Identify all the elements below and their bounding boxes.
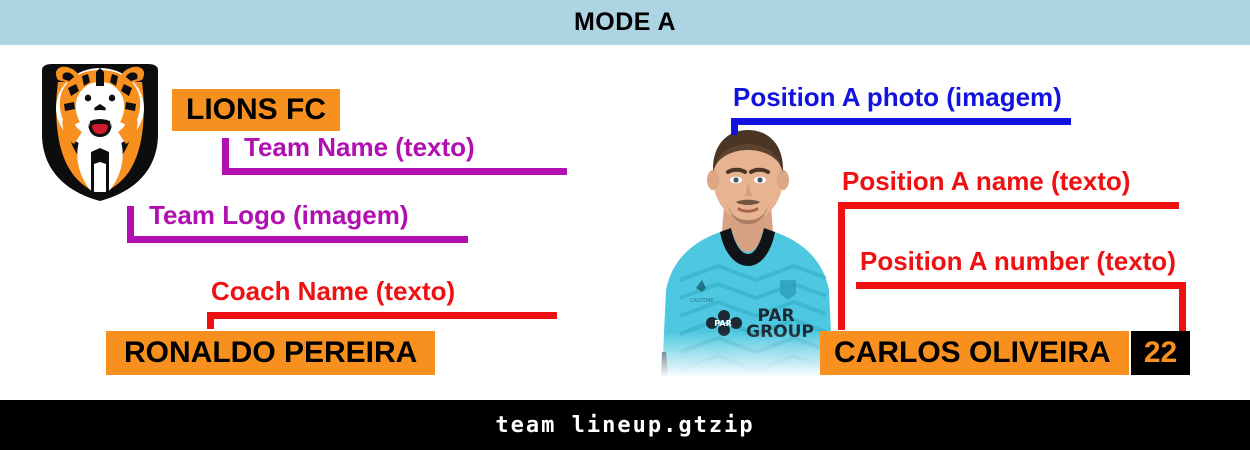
player-number-text: 22 bbox=[1144, 336, 1177, 370]
team-name-text: LIONS FC bbox=[186, 93, 326, 127]
annotation-bracket-stub bbox=[127, 206, 134, 240]
annotation-bracket-stub bbox=[1179, 282, 1186, 331]
annotation-bracket-stub bbox=[207, 312, 214, 329]
footer-filename-text: team lineup.gtzip bbox=[495, 413, 754, 438]
annotation-position-a-name-text: Position A name (texto) bbox=[842, 168, 1130, 194]
annotation-position-a-photo-text: Position A photo (imagem) bbox=[733, 84, 1062, 110]
team-logo-image bbox=[34, 52, 166, 202]
coach-name-text: RONALDO PEREIRA bbox=[124, 336, 417, 370]
annotation-bracket-line bbox=[207, 312, 557, 319]
annotation-team-logo-text: Team Logo (imagem) bbox=[149, 202, 409, 228]
annotation-bracket-line bbox=[856, 282, 1186, 289]
annotation-bracket-stub bbox=[731, 118, 738, 135]
annotation-position-a-number-text: Position A number (texto) bbox=[860, 248, 1176, 274]
annotation-bracket-line bbox=[838, 202, 1179, 209]
player-name-label: CARLOS OLIVEIRA bbox=[820, 331, 1129, 375]
annotation-bracket-stub bbox=[222, 138, 229, 172]
player-name-text: CARLOS OLIVEIRA bbox=[834, 336, 1111, 370]
coach-name-label: RONALDO PEREIRA bbox=[106, 331, 435, 375]
annotation-bracket-line bbox=[222, 168, 567, 175]
annotation-bracket-stub bbox=[838, 202, 845, 330]
screenshot-root: MODE A bbox=[0, 0, 1250, 450]
team-name-label: LIONS FC bbox=[172, 89, 340, 131]
annotation-bracket-line bbox=[731, 118, 1071, 125]
player-number-badge: 22 bbox=[1131, 331, 1190, 375]
footer-bar: team lineup.gtzip bbox=[0, 400, 1250, 450]
mode-header-bar: MODE A bbox=[0, 0, 1250, 45]
annotation-team-name-text: Team Name (texto) bbox=[244, 134, 475, 160]
annotation-bracket-line bbox=[127, 236, 468, 243]
annotation-coach-name-text: Coach Name (texto) bbox=[211, 278, 455, 304]
page-title: MODE A bbox=[574, 8, 676, 37]
tiger-shield-logo-icon bbox=[34, 52, 166, 202]
